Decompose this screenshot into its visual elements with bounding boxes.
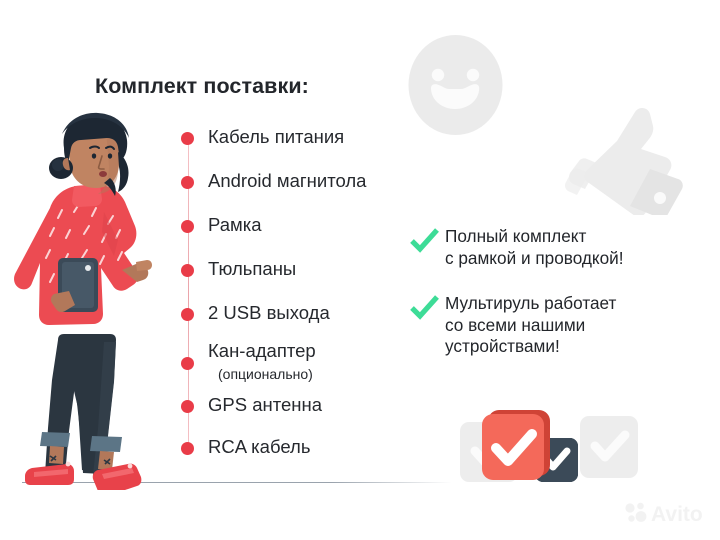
list-item-label: 2 USB выхода xyxy=(208,304,330,323)
bullet-dot-icon xyxy=(181,132,194,145)
green-check-icon xyxy=(409,228,439,254)
list-item-label: Android магнитола xyxy=(208,172,366,191)
list-item-label: Рамка xyxy=(208,216,262,235)
page-title: Комплект поставки: xyxy=(95,74,309,99)
list-item-label: Кан-адаптер xyxy=(208,342,316,361)
list-item-label: RCA кабель xyxy=(208,438,310,457)
bullet-dot-icon xyxy=(181,308,194,321)
bullet-dot-icon xyxy=(181,176,194,189)
list-item-label: GPS антенна xyxy=(208,396,322,415)
green-check-icon xyxy=(409,295,439,321)
package-contents-list: Кабель питания Android магнитола Рамка Т… xyxy=(178,128,428,458)
poster-canvas: Комплект поставки: Кабель питания Androi… xyxy=(0,0,720,540)
benefit-text: Мультируль работает со всеми нашими устр… xyxy=(445,293,616,358)
list-item-label: Кабель питания xyxy=(208,128,344,147)
thumbs-up-illustration xyxy=(565,103,693,215)
smiley-face-illustration xyxy=(403,31,508,139)
avito-watermark: Avito xyxy=(622,500,714,526)
bullet-dot-icon xyxy=(181,264,194,277)
bullet-dot-icon xyxy=(181,220,194,233)
bullet-dot-icon xyxy=(181,442,194,455)
benefits-list: Полный комплект с рамкой и проводкой! Му… xyxy=(409,228,709,378)
avito-wordmark: Avito xyxy=(651,503,703,526)
list-item-sublabel: (опционально) xyxy=(218,367,313,381)
benefit-text: Полный комплект с рамкой и проводкой! xyxy=(445,226,624,269)
checkbox-cards-illustration xyxy=(458,404,640,496)
bullet-dot-icon xyxy=(181,400,194,413)
list-item-label: Тюльпаны xyxy=(208,260,296,279)
woman-pointing-illustration xyxy=(6,112,174,490)
ground-line xyxy=(22,482,452,483)
bullet-dot-icon xyxy=(181,357,194,370)
